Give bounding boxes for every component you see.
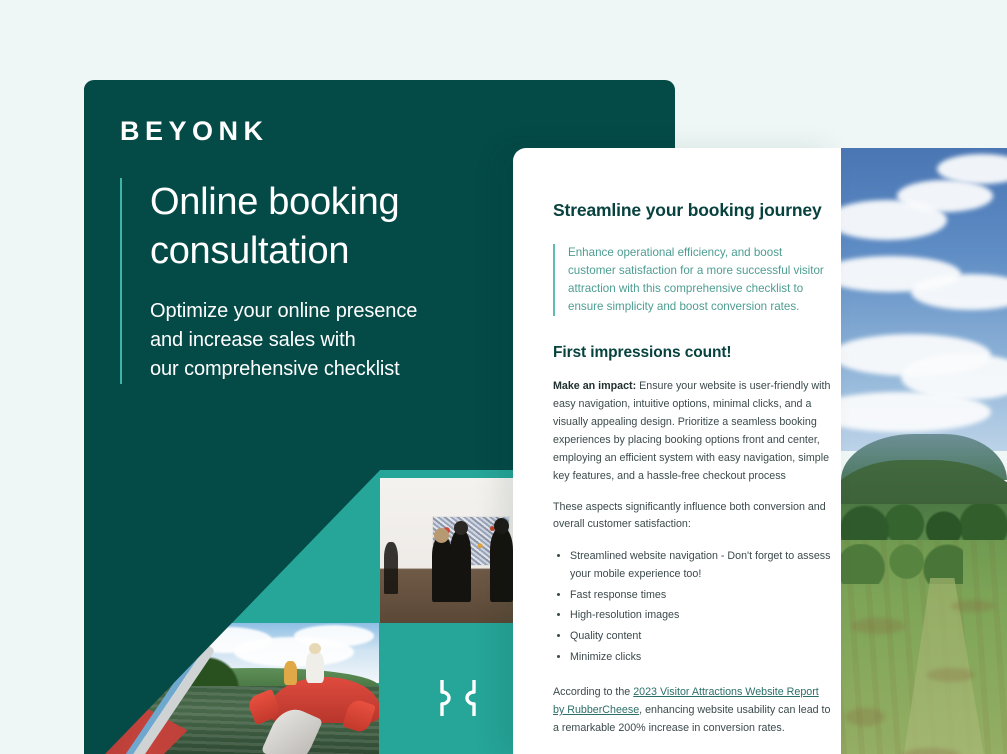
brand-wordmark: BEYONK	[120, 118, 269, 145]
countryside-landscape-photo	[841, 148, 1007, 754]
canoe-paddler	[306, 651, 324, 683]
page-title: Online booking consultation	[150, 178, 550, 275]
citation-prefix: According to the	[553, 686, 633, 698]
dry-grass-patch	[927, 668, 975, 682]
dry-grass-patch	[851, 618, 905, 634]
list-item: Fast response times	[570, 587, 831, 604]
section-heading: First impressions count!	[553, 344, 831, 362]
cover-subtitle: Optimize your online presence and increa…	[150, 297, 550, 384]
impact-body: Ensure your website is user-friendly wit…	[553, 380, 830, 481]
checklist-bullets: Streamlined website navigation - Don't f…	[553, 548, 831, 666]
cover-subtitle-line: our comprehensive checklist	[150, 355, 550, 384]
cover-subtitle-line: and increase sales with	[150, 326, 550, 355]
impact-label: Make an impact:	[553, 380, 636, 392]
document-heading: Streamline your booking journey	[553, 198, 831, 224]
list-item: Quality content	[570, 628, 831, 645]
aspects-intro: These aspects significantly influence bo…	[553, 499, 831, 535]
cloud	[294, 625, 374, 647]
gallery-visitor	[450, 530, 471, 602]
cover-subtitle-line: Optimize your online presence	[150, 297, 550, 326]
dry-grass-patch	[951, 600, 995, 612]
list-item: High-resolution images	[570, 607, 831, 624]
brochure-preview-stage: BEYONK Online booking consultation Optim…	[0, 0, 1007, 754]
gallery-visitor	[490, 528, 513, 602]
checklist-document-panel: Streamline your booking journey Enhance …	[513, 148, 841, 754]
dry-grass-patch	[845, 708, 885, 726]
cover-copy-block: Online booking consultation Optimize you…	[120, 178, 550, 384]
document-callout: Enhance operational efficiency, and boos…	[553, 244, 831, 317]
list-item: Minimize clicks	[570, 649, 831, 666]
citation-paragraph: According to the 2023 Visitor Attraction…	[553, 684, 831, 738]
impact-paragraph: Make an impact: Ensure your website is u…	[553, 378, 831, 485]
list-item: Streamlined website navigation - Don't f…	[570, 548, 831, 583]
document-content: Streamline your booking journey Enhance …	[553, 198, 831, 751]
gallery-visitor	[384, 542, 398, 594]
ticket-icon	[436, 680, 480, 716]
canoe-passenger	[284, 661, 297, 685]
gallery-visitor	[432, 536, 452, 602]
